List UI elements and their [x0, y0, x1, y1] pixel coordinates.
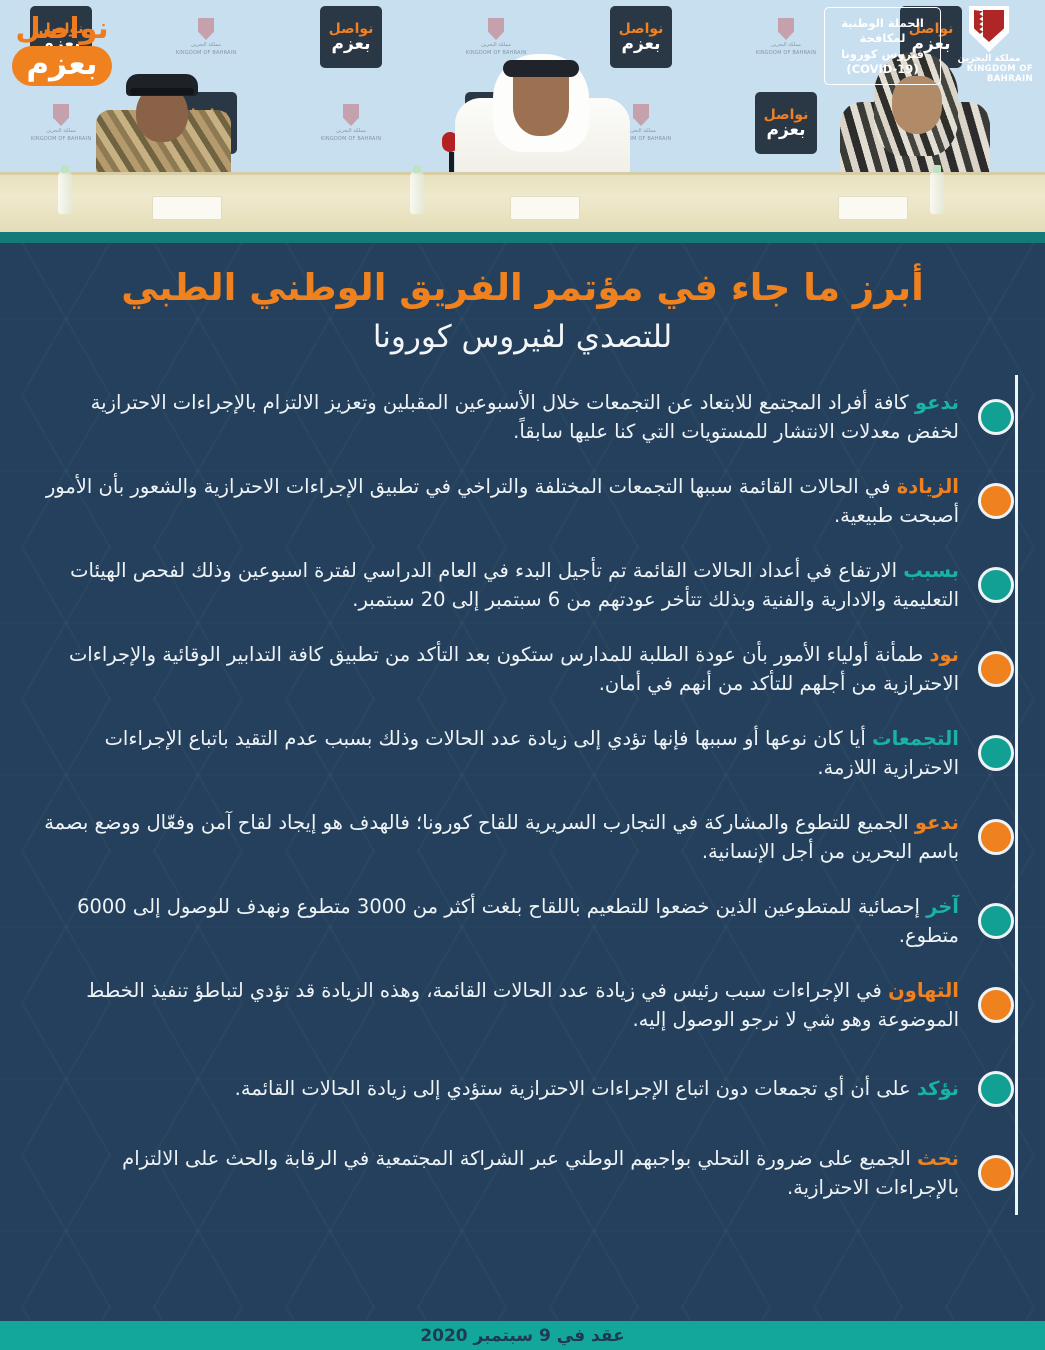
- water-bottle: [930, 172, 944, 214]
- backdrop-crest-tile: مملكة البحرينKINGDOM OF BAHRAIN: [173, 10, 239, 64]
- timeline-item-keyword: التجمعات: [872, 727, 959, 750]
- timeline-item-keyword: ندعو: [915, 391, 959, 414]
- timeline-item-body: أيا كان نوعها أو سببها فإنها تؤدي إلى زي…: [105, 727, 959, 780]
- timeline-item: الزيادة في الحالات القائمة سببها التجمعا…: [0, 459, 1025, 543]
- timeline-item: بسبب الارتفاع في أعداد الحالات القائمة ت…: [0, 543, 1025, 627]
- timeline-dot-orange: [978, 1155, 1014, 1191]
- shield-icon: [53, 104, 69, 126]
- campaign-line-1: الحملة الوطنية: [841, 16, 924, 30]
- timeline-dot-teal: [978, 1071, 1014, 1107]
- name-plate: [152, 196, 222, 220]
- timeline-item-body: في الإجراءات سبب رئيس في زيادة عدد الحال…: [86, 979, 959, 1032]
- timeline-item-body: في الحالات القائمة سببها التجمعات المختل…: [46, 475, 959, 528]
- timeline-marker: [967, 987, 1025, 1023]
- shield-icon: [488, 18, 504, 40]
- backdrop-crest-tile: مملكة البحرينKINGDOM OF BAHRAIN: [318, 96, 384, 150]
- backdrop-crest-arabic: مملكة البحرين: [336, 128, 366, 134]
- timeline-item-body: على أن أي تجمعات دون اتباع الإجراءات الا…: [235, 1077, 917, 1100]
- backdrop-crest-arabic: مملكة البحرين: [191, 42, 221, 48]
- timeline-marker: [967, 1071, 1025, 1107]
- page-title: أبرز ما جاء في مؤتمر الفريق الوطني الطبي: [60, 265, 985, 311]
- backdrop-crest-arabic: مملكة البحرين: [46, 128, 76, 134]
- emblem-arabic-label: مملكة البحرين: [958, 54, 1021, 64]
- footer-bar: عقد في 9 سبتمبر 2020: [0, 1321, 1045, 1350]
- timeline-item-keyword: التهاون: [888, 979, 959, 1002]
- timeline-item-body: الجميع للتطوع والمشاركة في التجارب السري…: [44, 811, 959, 864]
- backdrop-logo-tile: نواصلبعزم: [755, 92, 817, 154]
- timeline-item-keyword: نحث: [917, 1147, 959, 1170]
- backdrop-crest-english: KINGDOM OF BAHRAIN: [176, 50, 237, 56]
- brand-logo-nawasil-biazm: نواصل بعزم: [6, 4, 118, 96]
- emblem-english-label: KINGDOM OF BAHRAIN: [945, 64, 1033, 84]
- backdrop-logo-tile: نواصلبعزم: [320, 6, 382, 68]
- national-campaign-badge: الحملة الوطنية لمكافحة فيروس كورونا (COV…: [824, 7, 941, 85]
- timeline-item-body: طمأنة أولياء الأمور بأن عودة الطلبة للمد…: [69, 643, 959, 696]
- brand-logo-line2: بعزم: [12, 46, 111, 86]
- timeline-item-text: نؤكد على أن أي تجمعات دون اتباع الإجراءا…: [0, 1070, 967, 1108]
- backdrop-crest-arabic: مملكة البحرين: [626, 128, 656, 134]
- timeline-marker: [967, 1155, 1025, 1191]
- shield-icon: [633, 104, 649, 126]
- timeline-item: ندعو الجميع للتطوع والمشاركة في التجارب …: [0, 795, 1025, 879]
- brand-logo-line1: نواصل: [16, 14, 109, 43]
- timeline-marker: [967, 903, 1025, 939]
- footer-date: عقد في 9 سبتمبر 2020: [420, 1326, 624, 1346]
- timeline-item-body: إحصائية للمتطوعين الذين خضعوا للتطعيم با…: [77, 895, 959, 948]
- teal-divider: [0, 232, 1045, 243]
- timeline-dot-teal: [978, 399, 1014, 435]
- backdrop-crest-english: KINGDOM OF BAHRAIN: [321, 136, 382, 142]
- timeline-dot-orange: [978, 987, 1014, 1023]
- timeline-marker: [967, 399, 1025, 435]
- timeline-item-body: الارتفاع في أعداد الحالات القائمة تم تأج…: [70, 559, 959, 612]
- timeline-item-keyword: بسبب: [903, 559, 959, 582]
- timeline-dot-teal: [978, 903, 1014, 939]
- timeline-dot-teal: [978, 735, 1014, 771]
- campaign-line-3: فيروس كورونا: [841, 47, 924, 61]
- name-plate: [510, 196, 580, 220]
- timeline-marker: [967, 735, 1025, 771]
- timeline-item: ندعو كافة أفراد المجتمع للابتعاد عن التج…: [0, 375, 1025, 459]
- backdrop-crest-tile: مملكة البحرينKINGDOM OF BAHRAIN: [753, 10, 819, 64]
- timeline-marker: [967, 483, 1025, 519]
- shield-icon: [343, 104, 359, 126]
- timeline-item-keyword: نؤكد: [917, 1077, 959, 1100]
- timeline-item-keyword: نود: [929, 643, 959, 666]
- backdrop-crest-tile: مملكة البحرينKINGDOM OF BAHRAIN: [28, 96, 94, 150]
- infographic-page: نواصلبعزممملكة البحرينKINGDOM OF BAHRAIN…: [0, 0, 1045, 1350]
- timeline-marker: [967, 819, 1025, 855]
- timeline-marker: [967, 651, 1025, 687]
- timeline-marker: [967, 567, 1025, 603]
- water-bottle: [410, 172, 424, 214]
- timeline-item: نحث الجميع على ضرورة التحلي بواجبهم الوط…: [0, 1131, 1025, 1215]
- water-bottle: [58, 172, 72, 214]
- timeline-item-text: آخر إحصائية للمتطوعين الذين خضعوا للتطعي…: [0, 888, 967, 955]
- shield-icon: [778, 18, 794, 40]
- title-block: أبرز ما جاء في مؤتمر الفريق الوطني الطبي…: [0, 243, 1045, 357]
- timeline-list: ندعو كافة أفراد المجتمع للابتعاد عن التج…: [0, 375, 1045, 1215]
- timeline-dot-orange: [978, 483, 1014, 519]
- backdrop-crest-english: KINGDOM OF BAHRAIN: [756, 50, 817, 56]
- timeline-item-text: التهاون في الإجراءات سبب رئيس في زيادة ع…: [0, 972, 967, 1039]
- timeline-dot-teal: [978, 567, 1014, 603]
- timeline-item-text: بسبب الارتفاع في أعداد الحالات القائمة ت…: [0, 552, 967, 619]
- timeline-item-body: الجميع على ضرورة التحلي بواجبهم الوطني ع…: [122, 1147, 959, 1200]
- timeline-item: آخر إحصائية للمتطوعين الذين خضعوا للتطعي…: [0, 879, 1025, 963]
- timeline-item-text: ندعو كافة أفراد المجتمع للابتعاد عن التج…: [0, 384, 967, 451]
- shield-icon: [198, 18, 214, 40]
- campaign-line-2: لمكافحة: [860, 31, 906, 45]
- timeline-item: نود طمأنة أولياء الأمور بأن عودة الطلبة …: [0, 627, 1025, 711]
- timeline-item-text: ندعو الجميع للتطوع والمشاركة في التجارب …: [0, 804, 967, 871]
- campaign-line-4: (COVID-19): [846, 62, 918, 76]
- content-panel: أبرز ما جاء في مؤتمر الفريق الوطني الطبي…: [0, 243, 1045, 1321]
- timeline-item: نؤكد على أن أي تجمعات دون اتباع الإجراءا…: [0, 1047, 1025, 1131]
- bahrain-emblem: مملكة البحرين KINGDOM OF BAHRAIN: [945, 6, 1033, 90]
- timeline-item-keyword: الزيادة: [897, 475, 959, 498]
- timeline-dot-orange: [978, 651, 1014, 687]
- timeline-item-keyword: ندعو: [915, 811, 959, 834]
- timeline-item-text: نحث الجميع على ضرورة التحلي بواجبهم الوط…: [0, 1140, 967, 1207]
- press-conference-photo: نواصلبعزممملكة البحرينKINGDOM OF BAHRAIN…: [0, 0, 1045, 232]
- backdrop-logo-line2: بعزم: [767, 122, 806, 139]
- timeline-item-keyword: آخر: [926, 895, 959, 918]
- backdrop-crest-arabic: مملكة البحرين: [771, 42, 801, 48]
- timeline-item-body: كافة أفراد المجتمع للابتعاد عن التجمعات …: [91, 391, 959, 444]
- backdrop-crest-english: KINGDOM OF BAHRAIN: [31, 136, 92, 142]
- name-plate: [838, 196, 908, 220]
- timeline-item: التهاون في الإجراءات سبب رئيس في زيادة ع…: [0, 963, 1025, 1047]
- timeline-item-text: الزيادة في الحالات القائمة سببها التجمعا…: [0, 468, 967, 535]
- timeline-dot-orange: [978, 819, 1014, 855]
- page-subtitle: للتصدي لفيروس كورونا: [60, 317, 985, 357]
- backdrop-logo-line2: بعزم: [332, 36, 371, 53]
- timeline-item: التجمعات أيا كان نوعها أو سببها فإنها تؤ…: [0, 711, 1025, 795]
- shield-icon: [969, 6, 1009, 52]
- timeline-item-text: التجمعات أيا كان نوعها أو سببها فإنها تؤ…: [0, 720, 967, 787]
- timeline-item-text: نود طمأنة أولياء الأمور بأن عودة الطلبة …: [0, 636, 967, 703]
